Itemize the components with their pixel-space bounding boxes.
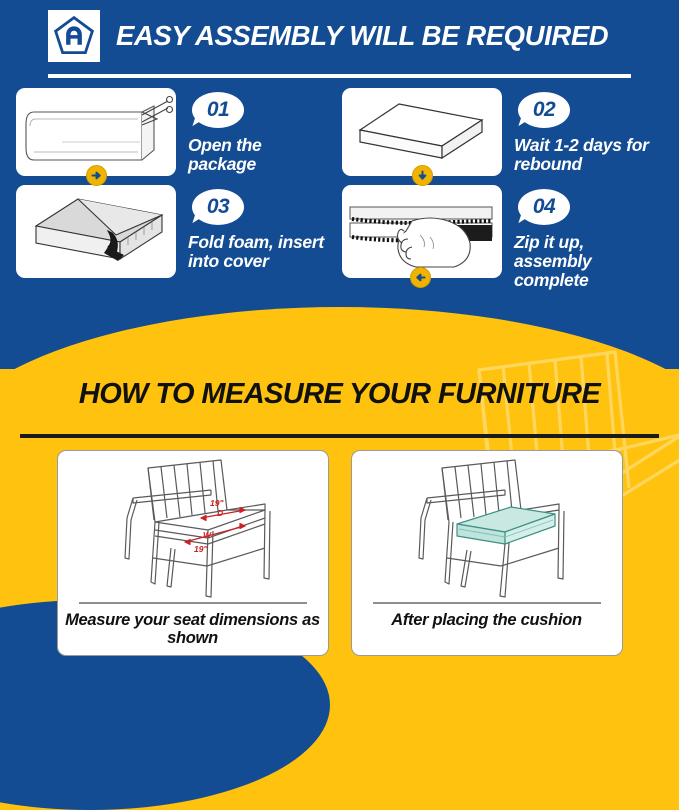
- step-01-label: Open the package: [188, 136, 330, 174]
- house-pentagon-logo-icon: [53, 15, 95, 57]
- header: EASY ASSEMBLY WILL BE REQUIRED: [0, 0, 679, 72]
- measure-cards: 19" D W 19" Measure your seat dimensions…: [0, 450, 679, 656]
- step-02-number-badge: 02: [514, 92, 570, 131]
- svg-text:19": 19": [210, 498, 224, 508]
- step-03: 03 Fold foam, insert into cover: [0, 185, 330, 290]
- step-04-number-badge: 04: [514, 189, 570, 228]
- step-number: 01: [207, 98, 229, 122]
- assembly-steps: 01 Open the package 02: [0, 88, 679, 299]
- step-02-text: 02 Wait 1-2 days for rebound: [502, 88, 660, 174]
- step-row-2: 03 Fold foam, insert into cover: [0, 185, 679, 290]
- measure-card-dimensions: 19" D W 19" Measure your seat dimensions…: [57, 450, 329, 656]
- step-04: 04 Zip it up, assembly complete: [330, 185, 660, 290]
- svg-text:D: D: [217, 508, 223, 518]
- measure-card-cushion: After placing the cushion: [351, 450, 623, 656]
- step-03-text: 03 Fold foam, insert into cover: [176, 185, 330, 271]
- step-01-text: 01 Open the package: [176, 88, 330, 174]
- step-03-label: Fold foam, insert into cover: [188, 233, 330, 271]
- measure-title: HOW TO MEASURE YOUR FURNITURE: [0, 378, 679, 411]
- step-04-illustration: [342, 185, 502, 278]
- step-03-number-badge: 03: [188, 189, 244, 228]
- chair-with-dimension-callouts-illustration: 19" D W 19": [93, 457, 293, 600]
- step-row-1: 01 Open the package 02: [0, 88, 679, 176]
- step-02-illustration: [342, 88, 502, 176]
- arrow-down-icon: [412, 165, 433, 186]
- step-01: 01 Open the package: [0, 88, 330, 176]
- step-04-text: 04 Zip it up, assembly complete: [502, 185, 660, 290]
- measure-card-1-caption: Measure your seat dimensions as shown: [58, 611, 328, 648]
- step-number: 03: [207, 195, 229, 219]
- step-01-illustration: [16, 88, 176, 176]
- step-03-illustration: [16, 185, 176, 278]
- brand-logo: [48, 10, 100, 62]
- arrow-right-icon: [86, 165, 107, 186]
- card-divider: [373, 602, 601, 604]
- measure-title-divider: [20, 434, 659, 438]
- measure-card-2-caption: After placing the cushion: [391, 611, 582, 629]
- card-divider: [79, 602, 307, 604]
- header-divider: [48, 74, 631, 78]
- step-04-label: Zip it up, assembly complete: [514, 233, 660, 290]
- step-02-label: Wait 1-2 days for rebound: [514, 136, 660, 174]
- svg-text:19": 19": [194, 544, 208, 554]
- step-02: 02 Wait 1-2 days for rebound: [330, 88, 660, 176]
- step-number: 04: [533, 195, 555, 219]
- step-01-number-badge: 01: [188, 92, 244, 131]
- arrow-left-icon: [410, 267, 431, 288]
- step-number: 02: [533, 98, 555, 122]
- page-title: EASY ASSEMBLY WILL BE REQUIRED: [116, 20, 608, 52]
- chair-with-cushion-illustration: [387, 457, 587, 600]
- svg-text:W: W: [203, 530, 212, 540]
